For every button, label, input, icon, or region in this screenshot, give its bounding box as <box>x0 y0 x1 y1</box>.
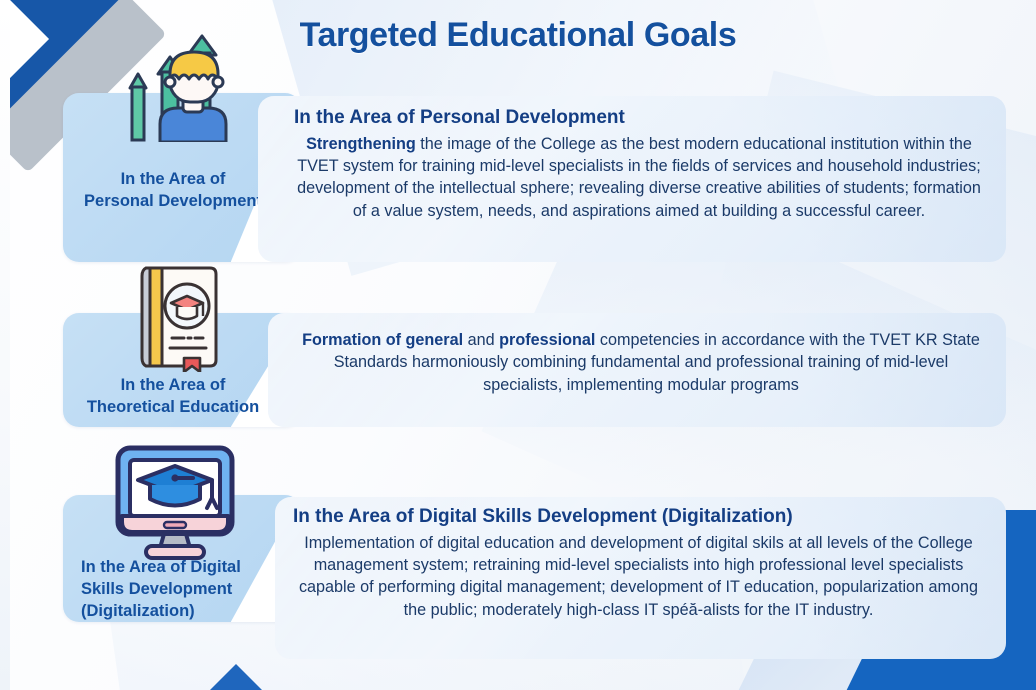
label-text-personal-development: In the Area of Personal Development <box>63 169 283 213</box>
content-body-theoretical-education: Formation of general and professional co… <box>298 329 984 396</box>
content-body-personal-development: Strengthening the image of the College a… <box>294 133 984 222</box>
content-body-mid-2: and <box>463 331 499 349</box>
content-body-lead-1: Strengthening <box>306 135 416 153</box>
growth-arrows-person-icon <box>104 32 236 142</box>
content-panel-theoretical-education: Formation of general and professional co… <box>268 313 1006 427</box>
content-panel-digital-skills: In the Area of Digital Skills Developmen… <box>275 497 1006 659</box>
label-text-theoretical-education: In the Area of Theoretical Education <box>63 375 283 419</box>
monitor-graduation-cap-icon <box>108 444 242 562</box>
infographic-poster: Targeted Educational Goals In the Area o… <box>0 0 1036 690</box>
content-body-lead-2b: professional <box>499 331 595 349</box>
content-heading-digital-skills: In the Area of Digital Skills Developmen… <box>293 505 984 529</box>
bottom-blue-triangle <box>210 664 262 690</box>
content-panel-personal-development: In the Area of Personal Development Stre… <box>258 96 1006 262</box>
content-body-lead-2a: Formation of general <box>302 331 463 349</box>
content-heading-personal-development: In the Area of Personal Development <box>294 106 984 130</box>
content-body-digital-skills: Implementation of digital education and … <box>293 532 984 621</box>
label-text-digital-skills: In the Area of Digital Skills Developmen… <box>81 557 275 622</box>
left-edge-strip <box>0 0 10 690</box>
book-graduation-cap-icon <box>128 258 232 372</box>
